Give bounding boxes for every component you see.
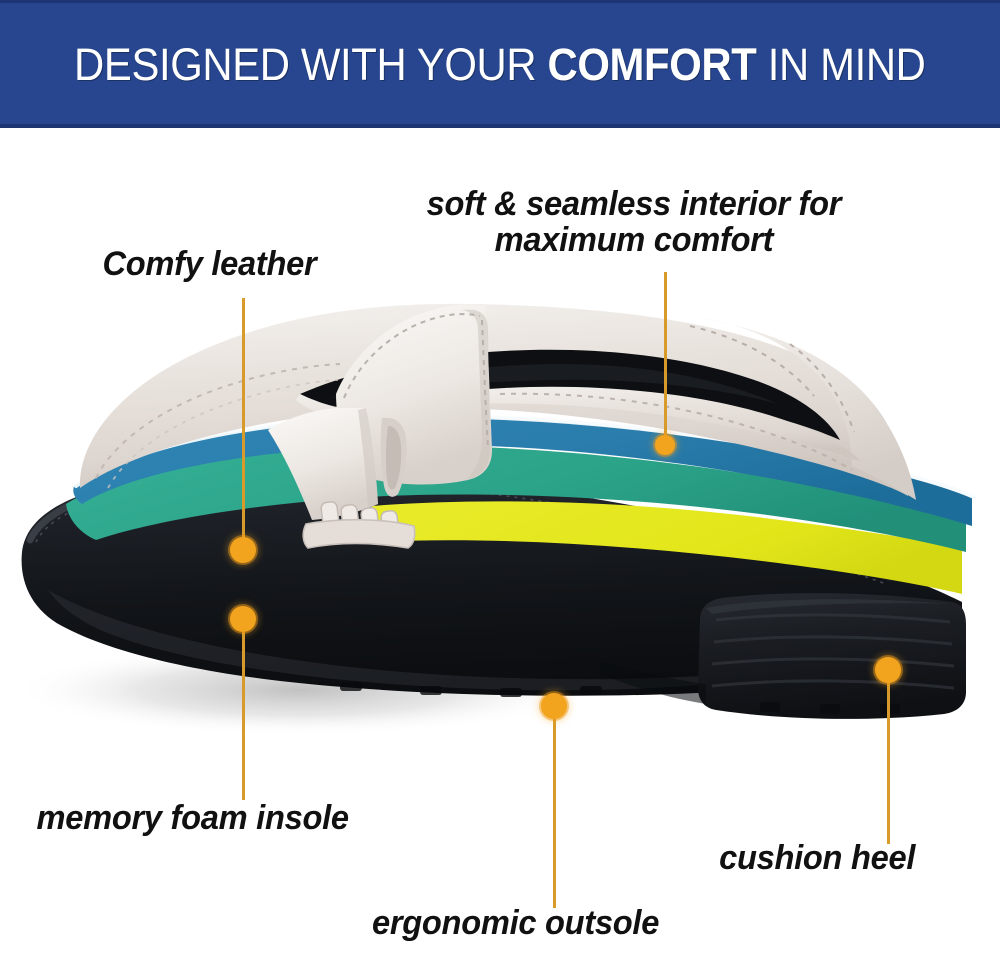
leader-line-ergonomic xyxy=(553,712,556,908)
banner-title-tail: IN MIND xyxy=(757,39,926,90)
callout-label-memory-foam: memory foam insole xyxy=(37,800,349,836)
leader-line-memory-foam xyxy=(242,632,245,800)
leader-dot-soft-interior xyxy=(655,435,675,455)
leader-dot-comfy-leather xyxy=(230,537,256,563)
leader-line-soft-interior xyxy=(664,272,667,444)
leader-dot-ergonomic xyxy=(541,693,567,719)
callout-label-comfy-leather: Comfy leather xyxy=(102,246,316,282)
callout-label-soft-interior: soft & seamless interior for maximum com… xyxy=(427,186,842,258)
leader-dot-cushion-heel xyxy=(875,657,901,683)
heel-block xyxy=(698,593,966,719)
banner-bottom-rule xyxy=(0,124,1000,128)
leader-line-comfy-leather xyxy=(242,298,245,548)
banner-title-emphasis: COMFORT xyxy=(548,39,757,90)
header-banner: DESIGNED WITH YOUR COMFORT IN MIND xyxy=(0,0,1000,128)
infographic-page: DESIGNED WITH YOUR COMFORT IN MIND xyxy=(0,0,1000,956)
leader-line-cushion-heel xyxy=(887,678,890,844)
penny-keeper-base xyxy=(303,520,415,548)
banner-top-rule xyxy=(0,0,1000,3)
callout-label-cushion-heel: cushion heel xyxy=(719,840,915,876)
callout-label-ergonomic-outsole: ergonomic outsole xyxy=(372,905,659,941)
product-shoe-illustration xyxy=(0,290,1000,770)
banner-title-lead: DESIGNED WITH YOUR xyxy=(74,39,547,90)
banner-title: DESIGNED WITH YOUR COMFORT IN MIND xyxy=(74,42,925,87)
leader-dot-memory-foam xyxy=(230,606,256,632)
